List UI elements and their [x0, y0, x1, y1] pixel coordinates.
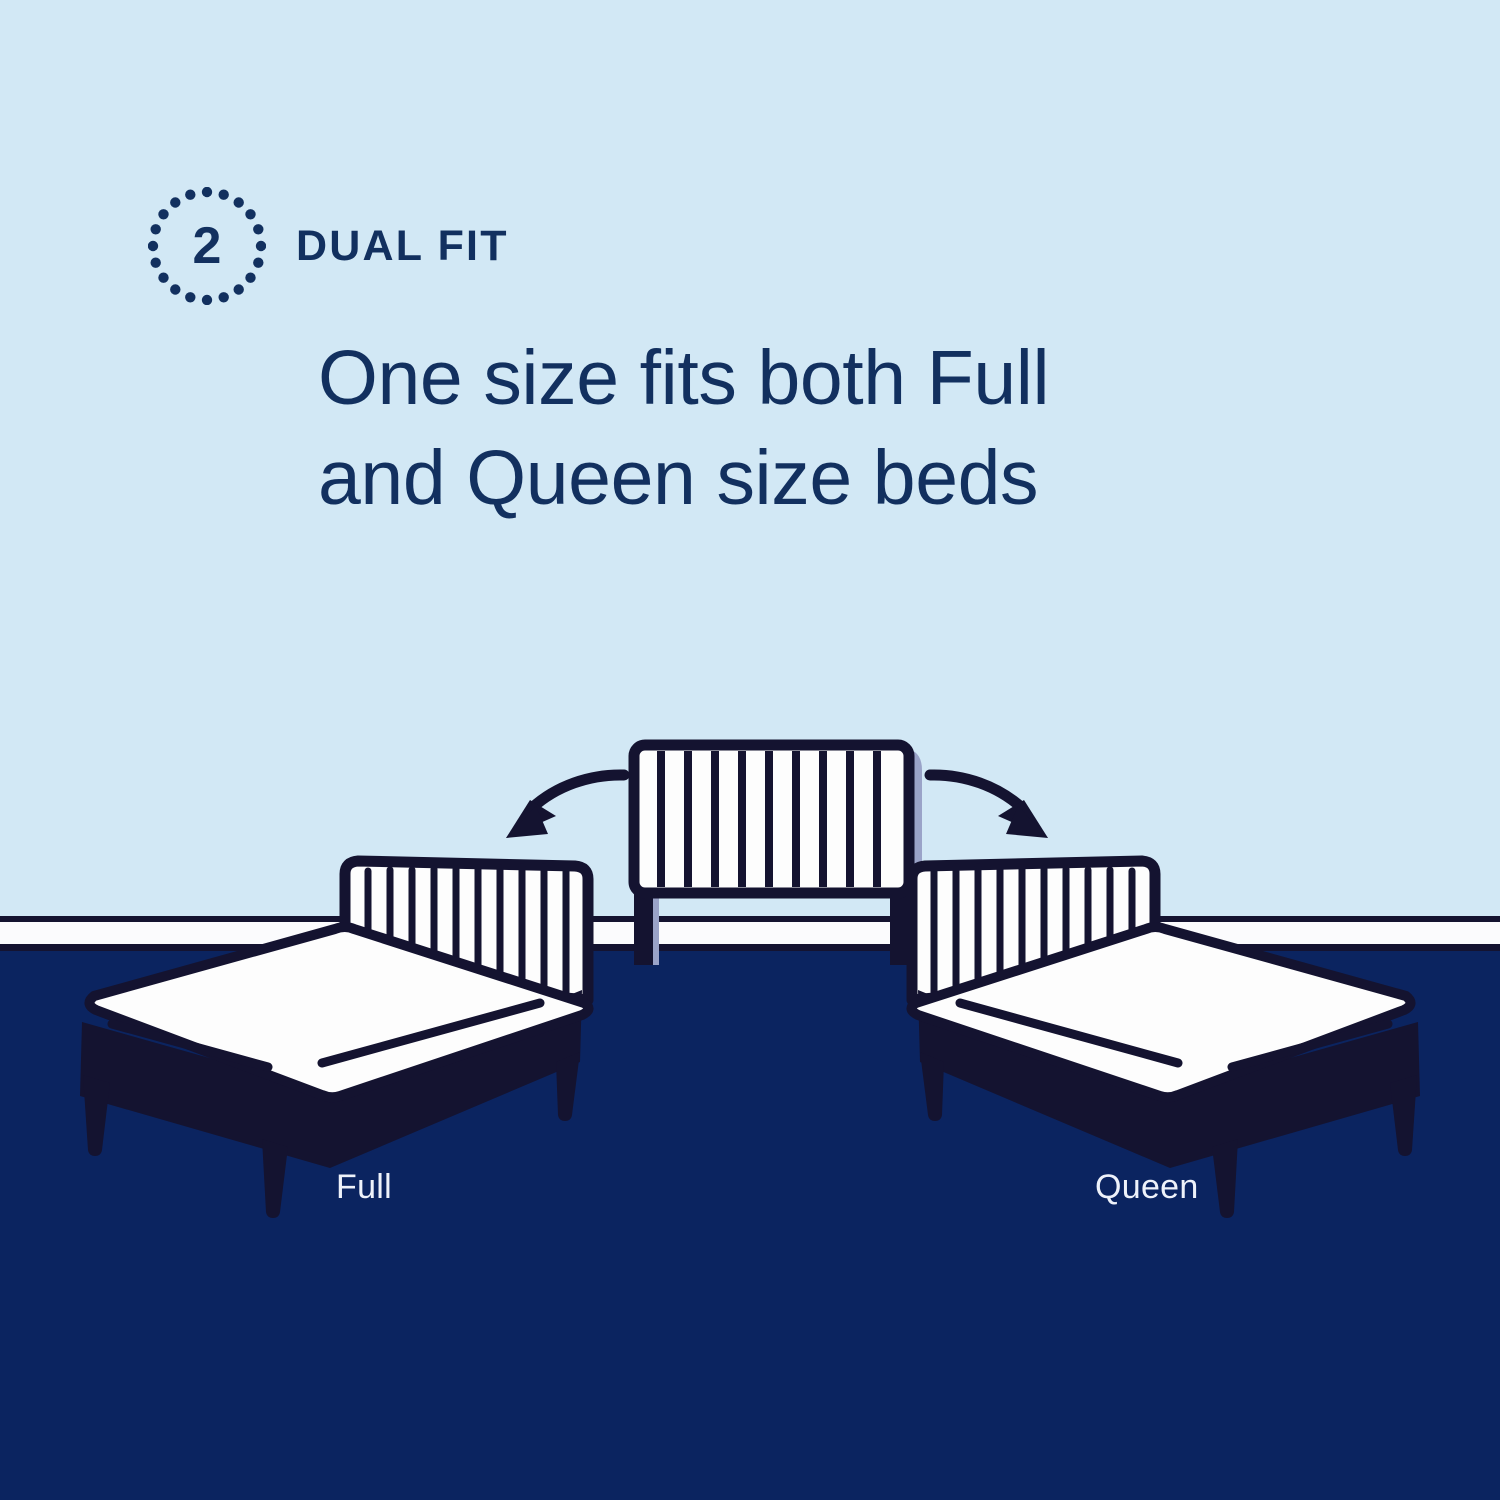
- bed-label-queen: Queen: [1095, 1168, 1199, 1207]
- bed-label-full: Full: [336, 1168, 392, 1207]
- baseboard-bottom-line: [0, 944, 1500, 951]
- baseboard-top-line: [0, 916, 1500, 922]
- illustration-card: 2 DUAL FIT One size fits both Full and Q…: [0, 0, 1500, 1500]
- scene-illustration: [0, 0, 1500, 1500]
